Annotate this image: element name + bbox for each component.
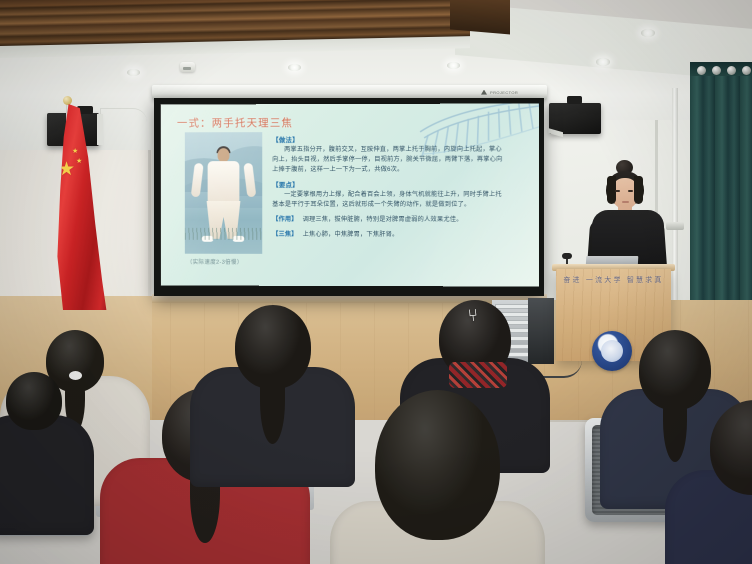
- student-head: [6, 372, 62, 430]
- curtain-grommet-3: [742, 66, 751, 75]
- wall-speaker-right-icon: [549, 103, 601, 134]
- brand-mark-icon: [481, 90, 487, 96]
- downlight-1: [288, 64, 301, 71]
- slide-heading-2: 【作用】: [272, 216, 297, 223]
- presenter-eye-left: [615, 190, 620, 192]
- student-2-dark-hair-left-edge: [0, 372, 94, 550]
- downlight-3: [596, 58, 610, 66]
- slide-demonstrator-photo: [185, 132, 262, 254]
- student-8-right-navy-hoodie: [665, 400, 752, 564]
- slide-paragraph-0: 两掌五指分开，腹前交叉，互胺伸直，两掌上托于胸前，内旋向上托起，掌心向上，抬头目…: [272, 145, 502, 175]
- speaker-left-bracket: [97, 114, 103, 145]
- presenter-hair-right: [634, 176, 643, 204]
- slide-paragraph-3: 上焦心肺，中焦脾胃，下焦肝肾。: [303, 231, 399, 238]
- slide-photo-caption: （实际速度2-3倍慢）: [187, 258, 243, 266]
- slide-paragraph-2: 调理三焦，拔伸脏腑，特别是对脾胃虚弱的人效果尤佳。: [303, 216, 463, 223]
- pipe-valve: [666, 222, 684, 230]
- student-head: [235, 305, 311, 389]
- presenter-mouth: [622, 201, 629, 203]
- curtain-grommet-1: [712, 66, 721, 75]
- curtain-grommet-2: [727, 66, 736, 75]
- podium-inscription: 奋进 一流大学 智慧求真: [556, 275, 671, 285]
- slide-heading-0: 【做法】: [272, 135, 502, 144]
- housing-brand-logo: PROJECTOR: [481, 89, 535, 96]
- student-head: [375, 390, 500, 540]
- flag-pole-finial: [63, 96, 72, 105]
- brand-text: PROJECTOR: [490, 90, 518, 95]
- downlight-4: [641, 29, 655, 37]
- lecture-hall-photo: ★ ★ ★ PROJECTOR 一式：两手托天理三焦: [0, 0, 752, 564]
- flag-star-small-2: ★: [76, 158, 82, 165]
- smoke-detector-icon: [180, 62, 195, 72]
- presentation-slide: 一式：两手托天理三焦 （实际速度2-3倍慢） 【做法】 两掌五指分开，腹前交叉，…: [161, 103, 539, 286]
- hair-clip-icon: ⑂: [459, 305, 487, 328]
- microphone-icon: [562, 253, 572, 259]
- figure-head: [218, 148, 230, 162]
- curtain-grommet-0: [697, 66, 706, 75]
- figure-torso: [208, 161, 240, 203]
- speaker-cable: [100, 108, 147, 139]
- student-head: [639, 330, 711, 410]
- slide-heading-3: 【三焦】: [272, 231, 297, 238]
- slide-line-3: 【三焦】上焦心肺，中焦脾胃，下焦肝肾。: [272, 230, 502, 240]
- student-6-long-hair-center-front: [330, 390, 545, 564]
- student-torso: [0, 415, 94, 535]
- plaid-scarf: [449, 362, 507, 388]
- downlight-0: [127, 69, 140, 76]
- slide-body-text: 【做法】 两掌五指分开，腹前交叉，互胺伸直，两掌上托于胸前，内旋向上托起，掌心向…: [272, 130, 502, 241]
- downlight-2: [447, 62, 460, 69]
- slide-title: 一式：两手托天理三焦: [177, 115, 293, 130]
- slide-line-2: 【作用】调理三焦，拔伸脏腑，特别是对脾胃虚弱的人效果尤佳。: [272, 215, 502, 225]
- presenter-eye-right: [628, 190, 633, 192]
- slide-heading-1: 【要点】: [272, 180, 502, 189]
- figure-ground: [185, 228, 262, 240]
- flag-star-small-1: ★: [72, 148, 78, 155]
- slide-paragraph-1: 一定要掌根用力上撑，配合着百会上领，身体气机就能往上升，同时手臂上托基本是平行于…: [272, 190, 502, 210]
